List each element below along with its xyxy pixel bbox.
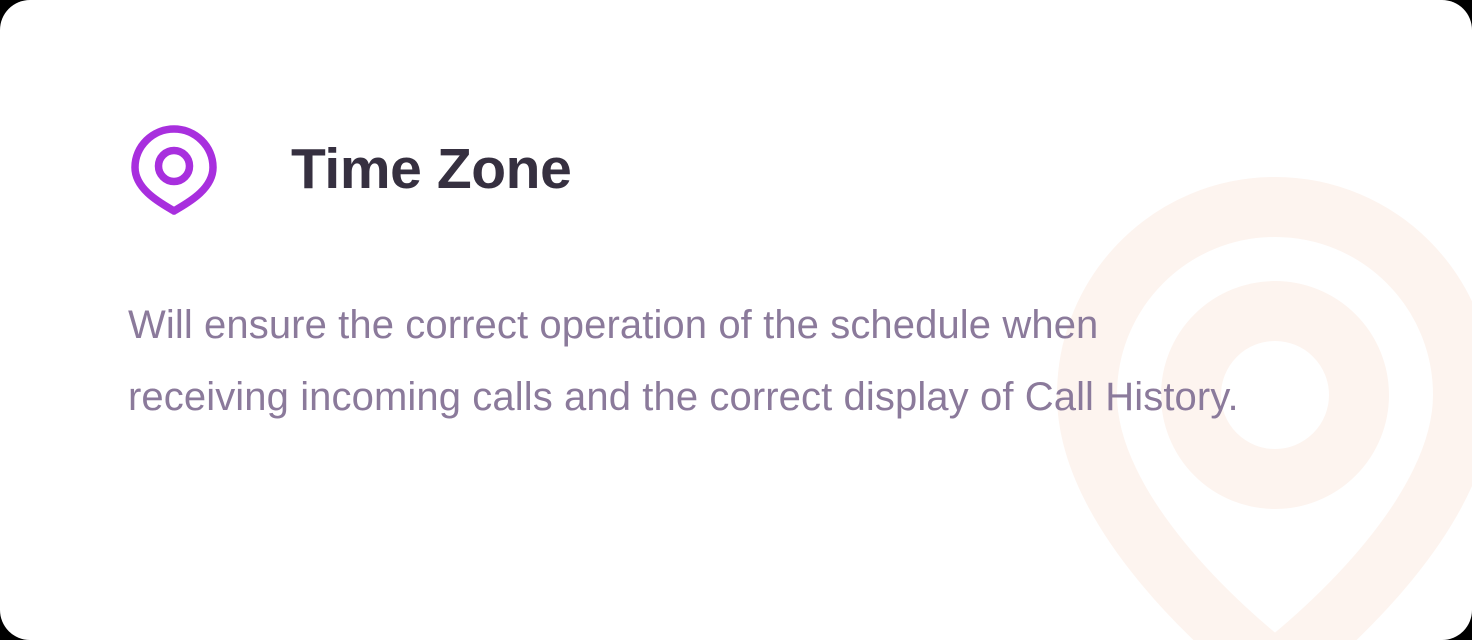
card-description-text: Will ensure the correct operation of the… xyxy=(128,289,1268,433)
card-content: Time Zone Will ensure the correct operat… xyxy=(0,0,1472,640)
location-pin-icon xyxy=(130,124,218,216)
time-zone-feature-card: Time Zone Will ensure the correct operat… xyxy=(0,0,1472,640)
card-header: Time Zone xyxy=(130,124,571,216)
page-title: Time Zone xyxy=(291,140,571,200)
